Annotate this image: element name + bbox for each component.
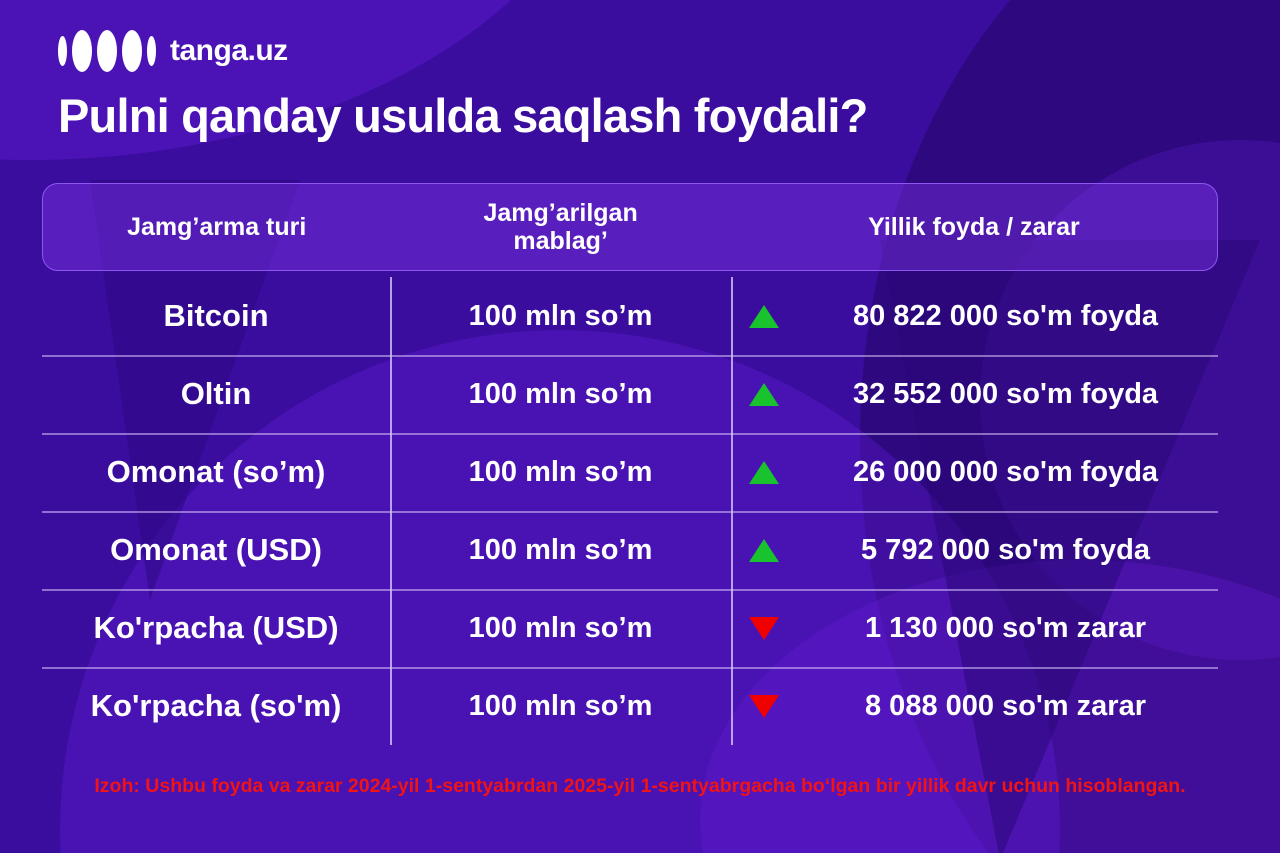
table-row: Ko'rpacha (USD) 100 mln so’m 1 130 000 s…: [42, 589, 1218, 667]
table-row: Oltin 100 mln so’m 32 552 000 so'm foyda: [42, 355, 1218, 433]
table-header-row: Jamg’arma turi Jamg’arilgan mablag’ Yill…: [42, 183, 1218, 271]
table-body: Bitcoin 100 mln so’m 80 822 000 so'm foy…: [42, 277, 1218, 745]
cell-amount: 100 mln so’m: [390, 456, 731, 489]
cell-type: Oltin: [42, 376, 390, 412]
comparison-table: Jamg’arma turi Jamg’arilgan mablag’ Yill…: [42, 183, 1218, 745]
cell-type: Omonat (so’m): [42, 454, 390, 490]
table-row: Ko'rpacha (so'm) 100 mln so’m 8 088 000 …: [42, 667, 1218, 745]
page-title: Pulni qanday usulda saqlash foydali?: [58, 88, 868, 143]
cell-amount: 100 mln so’m: [390, 534, 731, 567]
table-row: Omonat (USD) 100 mln so’m 5 792 000 so'm…: [42, 511, 1218, 589]
triangle-up-icon: [749, 383, 779, 406]
table-row: Omonat (so’m) 100 mln so’m 26 000 000 so…: [42, 433, 1218, 511]
cell-amount: 100 mln so’m: [390, 300, 731, 333]
delta-text: 26 000 000 so'm foyda: [793, 456, 1218, 489]
four-pills-icon: [58, 30, 156, 72]
cell-delta: 1 130 000 so'm zarar: [731, 612, 1218, 645]
column-header-delta: Yillik foyda / zarar: [731, 213, 1217, 241]
cell-amount: 100 mln so’m: [390, 612, 731, 645]
triangle-up-icon: [749, 539, 779, 562]
cell-type: Ko'rpacha (USD): [42, 610, 390, 646]
delta-text: 5 792 000 so'm foyda: [793, 534, 1218, 567]
triangle-down-icon: [749, 695, 779, 718]
cell-type: Ko'rpacha (so'm): [42, 688, 390, 724]
triangle-up-icon: [749, 461, 779, 484]
delta-text: 8 088 000 so'm zarar: [793, 690, 1218, 723]
brand-logo[interactable]: tanga.uz: [58, 30, 288, 72]
cell-type: Bitcoin: [42, 298, 390, 334]
cell-delta: 80 822 000 so'm foyda: [731, 300, 1218, 333]
delta-text: 80 822 000 so'm foyda: [793, 300, 1218, 333]
column-header-type: Jamg’arma turi: [43, 213, 390, 241]
cell-type: Omonat (USD): [42, 532, 390, 568]
cell-delta: 5 792 000 so'm foyda: [731, 534, 1218, 567]
cell-delta: 26 000 000 so'm foyda: [731, 456, 1218, 489]
brand-name: tanga.uz: [170, 34, 288, 68]
delta-text: 32 552 000 so'm foyda: [793, 378, 1218, 411]
infographic-canvas: tanga.uz Pulni qanday usulda saqlash foy…: [0, 0, 1280, 853]
delta-text: 1 130 000 so'm zarar: [793, 612, 1218, 645]
triangle-up-icon: [749, 305, 779, 328]
column-header-amount-line2: mablag’: [390, 227, 730, 255]
cell-amount: 100 mln so’m: [390, 378, 731, 411]
cell-delta: 32 552 000 so'm foyda: [731, 378, 1218, 411]
cell-amount: 100 mln so’m: [390, 690, 731, 723]
column-header-amount: Jamg’arilgan mablag’: [390, 199, 730, 255]
cell-delta: 8 088 000 so'm zarar: [731, 690, 1218, 723]
table-row: Bitcoin 100 mln so’m 80 822 000 so'm foy…: [42, 277, 1218, 355]
column-header-amount-line1: Jamg’arilgan: [390, 199, 730, 227]
triangle-down-icon: [749, 617, 779, 640]
footnote: Izoh: Ushbu foyda va zarar 2024-yil 1-se…: [0, 775, 1280, 798]
